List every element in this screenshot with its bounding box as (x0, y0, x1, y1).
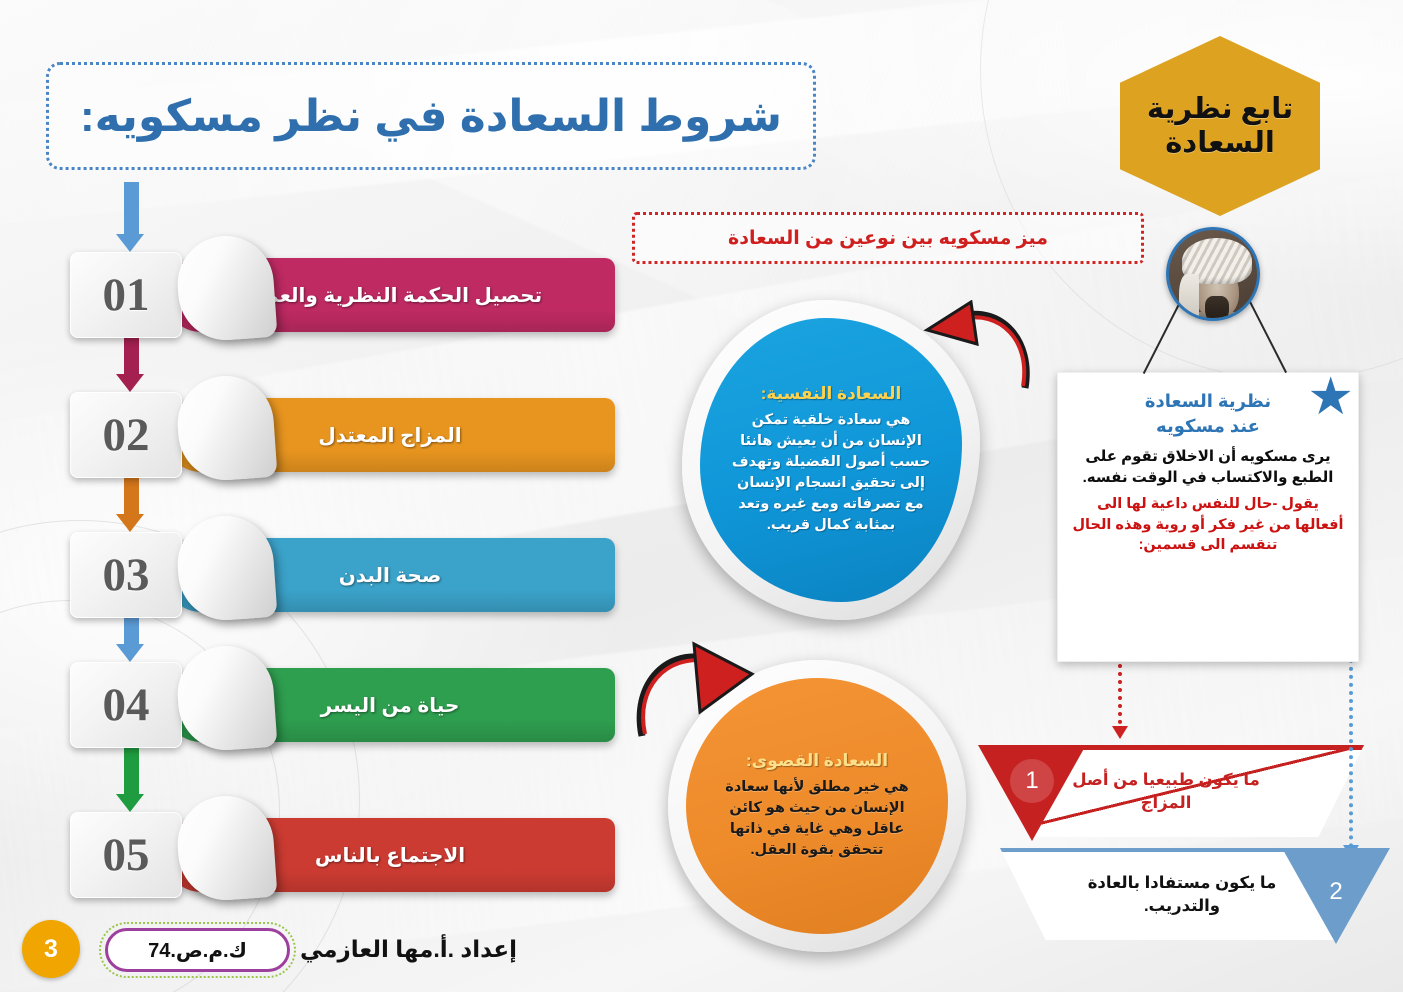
banner-number: 2 (1314, 870, 1358, 914)
callout-inner: السعادة القصوى: هي خير مطلق لأنها سعادة … (686, 678, 948, 934)
step-item-04: حياة من اليسر04 (70, 662, 615, 748)
reference-text: ك.م.ص.74 (148, 938, 247, 963)
portrait-drape (1179, 274, 1199, 321)
banner-item-2: 2 ما يكون مستفادا بالعادة والتدريب. (1000, 848, 1380, 940)
step-number-box: 05 (70, 812, 182, 898)
page-number-badge: 3 (22, 920, 80, 978)
arrow-shaft (124, 618, 139, 644)
step-bar: المزاج المعتدل (165, 398, 615, 472)
scholar-portrait-avatar (1166, 227, 1260, 321)
star-icon: ★ (1308, 377, 1354, 423)
reference-pill: ك.م.ص.74 (105, 928, 290, 972)
arrow-head-icon (116, 234, 144, 252)
slide-canvas: شروط السعادة في نظر مسكويه: تحصيل الحكمة… (0, 0, 1403, 992)
theory-heading-line1: نظرية السعادة (1072, 389, 1344, 414)
step-label: المزاج المعتدل (296, 423, 483, 448)
theory-heading-line2: عند مسكويه (1072, 414, 1344, 439)
step-connector-arrow (118, 338, 144, 392)
callout-title: السعادة النفسية: (761, 384, 902, 404)
step-bar: صحة البدن (165, 538, 615, 612)
theory-panel: ★ نظرية السعادة عند مسكويه يرى مسكويه أن… (1057, 372, 1359, 662)
page-title: شروط السعادة في نظر مسكويه: (80, 91, 782, 142)
step-number: 03 (103, 548, 150, 602)
arrow-shaft (124, 182, 139, 234)
callout-title: السعادة القصوى: (746, 751, 888, 771)
distinction-note: ميز مسكويه بين نوعين من السعادة (632, 212, 1144, 264)
step-label: صحة البدن (317, 563, 464, 588)
step-number-box: 01 (70, 252, 182, 338)
dotted-connector-red (1118, 664, 1122, 732)
step-item-01: تحصيل الحكمة النظرية والعملية01 (70, 252, 615, 338)
callout-body: هي خير مطلق لأنها سعادة الإنسان من حيث ه… (712, 777, 922, 861)
arrow-shaft (124, 478, 139, 514)
banner-text: ما يكون مستفادا بالعادة والتدريب. (1062, 856, 1302, 934)
distinction-note-text: ميز مسكويه بين نوعين من السعادة (728, 227, 1048, 250)
callout-body: هي سعادة خلقية تمكن الإنسان من أن يعيش ه… (726, 410, 936, 536)
step-number-box: 04 (70, 662, 182, 748)
theory-body-text: يرى مسكويه أن الاخلاق تقوم على الطبع وال… (1072, 446, 1344, 488)
callout-inner: السعادة النفسية: هي سعادة خلقية تمكن الإ… (700, 318, 962, 602)
step-item-03: صحة البدن03 (70, 532, 615, 618)
hanging-string (1248, 299, 1287, 373)
arrow-head-icon (1112, 726, 1128, 739)
step-number: 02 (103, 408, 150, 462)
step-number-box: 03 (70, 532, 182, 618)
callout-psychological-happiness: السعادة النفسية: هي سعادة خلقية تمكن الإ… (682, 300, 980, 620)
author-credit: إعداد .أ.مها العازمي (300, 936, 517, 963)
step-connector-arrow (118, 618, 144, 662)
arrow-head-icon (116, 794, 144, 812)
arrow-head-icon (116, 374, 144, 392)
step-bar: حياة من اليسر (165, 668, 615, 742)
step-number: 05 (103, 828, 150, 882)
callout-ultimate-happiness: السعادة القصوى: هي خير مطلق لأنها سعادة … (668, 660, 966, 952)
hex-badge-label: تابع نظرية السعادة (1120, 92, 1320, 160)
arrow-head-icon (116, 514, 144, 532)
step-number: 04 (103, 678, 150, 732)
step-item-05: الاجتماع بالناس05 (70, 812, 615, 898)
step-connector-arrow (118, 182, 144, 252)
step-label: حياة من اليسر (299, 693, 482, 718)
step-number-box: 02 (70, 392, 182, 478)
step-item-02: المزاج المعتدل02 (70, 392, 615, 478)
portrait-beard (1205, 296, 1229, 321)
arrow-shaft (124, 338, 139, 374)
step-connector-arrow (118, 748, 144, 812)
banner-item-1: 1 ما يكون طبيعيا من أصل المزاج (984, 745, 1364, 837)
arrow-shaft (124, 748, 139, 794)
step-label: تحصيل الحكمة النظرية والعملية (216, 283, 564, 308)
theory-quote-text: يقول -حال للنفس داعية لها الى أفعالها من… (1072, 494, 1344, 555)
step-bar: تحصيل الحكمة النظرية والعملية (165, 258, 615, 332)
hanging-string (1143, 300, 1182, 374)
banner-number: 1 (1010, 759, 1054, 803)
step-connector-arrow (118, 478, 144, 532)
step-number: 01 (103, 268, 150, 322)
slide-title-box: شروط السعادة في نظر مسكويه: (46, 62, 816, 170)
step-label: الاجتماع بالناس (293, 843, 487, 868)
arrow-head-icon (116, 644, 144, 662)
step-bar: الاجتماع بالناس (165, 818, 615, 892)
hex-badge: تابع نظرية السعادة (1120, 36, 1320, 216)
